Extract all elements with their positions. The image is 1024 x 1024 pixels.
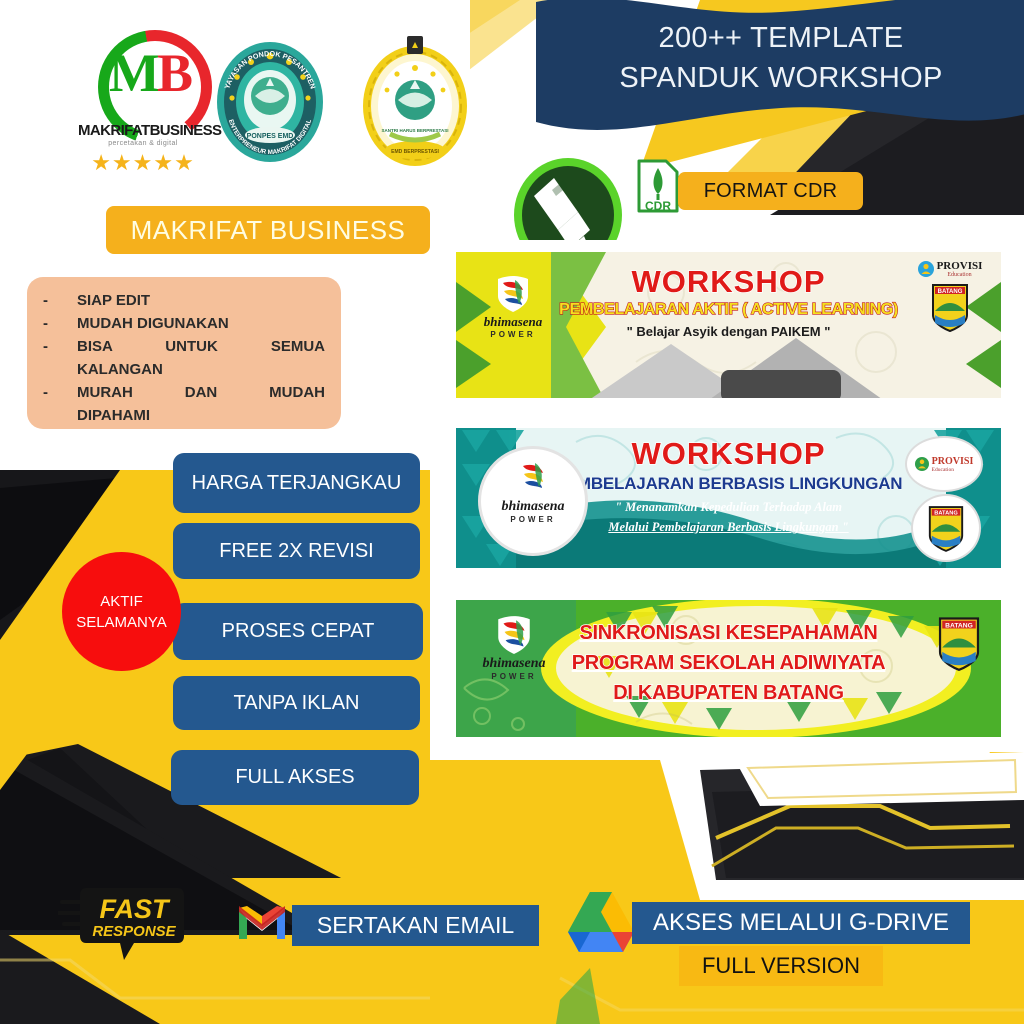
cdr-icon-label: CDR — [645, 199, 671, 213]
banner-2-region-label: BATANG — [934, 511, 958, 517]
features-list: -SIAP EDIT-MUDAH DIGUNAKAN-BISA UNTUK SE… — [43, 289, 325, 427]
banner-2-sponsor-name: bhimasena — [481, 499, 585, 515]
feature-item: KALANGAN — [43, 358, 325, 381]
feature-bullet: - — [43, 381, 77, 404]
header-title-line-2: SPANDUK WORKSHOP — [536, 58, 1024, 98]
header-ribbon: 200++ TEMPLATE SPANDUK WORKSHOP — [536, 0, 1024, 141]
feature-button-full-akses[interactable]: FULL AKSES — [171, 750, 419, 805]
feature-text: DIPAHAMI — [77, 404, 325, 427]
fast-response-line-1: FAST — [99, 894, 171, 924]
feature-item: -SIAP EDIT — [43, 289, 325, 312]
logo-wordmark: MAKRIFATBUSINESS — [78, 122, 208, 139]
feature-item: DIPAHAMI — [43, 404, 325, 427]
banner-3-sponsor-name: bhimasena — [470, 656, 558, 672]
full-version-label: FULL VERSION — [702, 953, 860, 979]
feature-bullet: - — [43, 289, 77, 312]
banner-1-sponsor-name: bhimasena — [472, 314, 554, 330]
feature-item: -BISA UNTUK SEMUA — [43, 335, 325, 358]
feature-text: MURAH DAN MUDAH — [77, 381, 325, 404]
sertakan-email-box: SERTAKAN EMAIL — [292, 905, 539, 946]
badge-line-2: SELAMANYA — [76, 612, 167, 633]
logo-initial-b: B — [157, 43, 190, 103]
bhimasena-shield-icon — [495, 614, 533, 656]
button-label: FREE 2X REVISI — [219, 539, 374, 564]
gdrive-access-label: AKSES MELALUI G-DRIVE — [653, 909, 949, 937]
bhimasena-shield-icon — [495, 274, 531, 314]
header-title-line-1: 200++ TEMPLATE — [536, 18, 1024, 58]
logo-initial-m: M — [109, 43, 157, 103]
brand-title-label: MAKRIFAT BUSINESS — [131, 215, 406, 246]
cdr-file-icon: CDR — [636, 158, 680, 214]
banner-1-region-label: BATANG — [938, 289, 963, 295]
gmail-icon — [236, 898, 288, 942]
format-cdr-pill: FORMAT CDR — [678, 172, 863, 210]
emblem-sub-text: SANTRI HARUS BERPRESTASI — [382, 128, 449, 133]
banner-3-sponsor: bhimasena POWER — [470, 614, 558, 681]
feature-button-free-revisi[interactable]: FREE 2X REVISI — [173, 523, 420, 579]
brand-title-pill: MAKRIFAT BUSINESS — [106, 206, 430, 254]
provisi-icon — [918, 261, 934, 277]
gdrive-access-box: AKSES MELALUI G-DRIVE — [632, 902, 970, 944]
feature-text: MUDAH DIGUNAKAN — [77, 312, 325, 335]
banner-3-sponsor-sub: POWER — [470, 672, 558, 681]
fast-response-badge: FAST RESPONSE — [58, 886, 186, 962]
feature-button-harga-terjangkau[interactable]: HARGA TERJANGKAU — [173, 453, 420, 513]
feature-text: KALANGAN — [77, 358, 325, 381]
features-box: -SIAP EDIT-MUDAH DIGUNAKAN-BISA UNTUK SE… — [27, 277, 341, 429]
yayasan-pondok-pesantren-seal: PONPES EMD YAYASAN PONDOK PESANTREN ENTE… — [215, 40, 325, 164]
banner-2-partner-sub: Education — [932, 467, 974, 473]
banner-3-region-label: BATANG — [945, 622, 973, 629]
banner-1-sponsor: bhimasena POWER — [472, 274, 554, 339]
banner-3-line-3: DI KABUPATEN BATANG — [456, 682, 1001, 705]
logo-initials: MB — [109, 44, 181, 106]
banner-2-sponsor-sub: POWER — [481, 515, 585, 524]
button-label: PROSES CEPAT — [222, 619, 375, 644]
gold-chain-emblem: EMD BERPRESTASI SANTRI HARUS BERPRESTASI — [355, 34, 475, 174]
banner-preview-3[interactable]: SINKRONISASI KESEPAHAMAN PROGRAM SEKOLAH… — [456, 596, 1001, 741]
makrifat-business-logo: MB MAKRIFATBUSINESS percetakan & digital… — [78, 30, 208, 180]
feature-bullet: - — [43, 335, 77, 358]
bhimasena-shield-icon — [515, 457, 551, 497]
seal-ribbon-text: PONPES EMD — [247, 133, 294, 140]
full-version-box: FULL VERSION — [679, 946, 883, 986]
fast-response-line-2: RESPONSE — [92, 923, 176, 940]
rating-stars: ★★★★★ — [78, 152, 208, 174]
button-label: HARGA TERJANGKAU — [192, 471, 402, 496]
banner-preview-1[interactable]: WORKSHOP PEMBELAJARAN AKTIF ( ACTIVE LEA… — [456, 252, 1001, 402]
feature-button-tanpa-iklan[interactable]: TANPA IKLAN — [173, 676, 420, 730]
banner-1-sponsor-sub: POWER — [472, 330, 554, 339]
badge-line-1: AKTIF — [100, 591, 143, 612]
banner-2-region: BATANG — [911, 494, 981, 562]
google-drive-icon — [564, 888, 638, 956]
aktif-selamanya-badge: AKTIF SELAMANYA — [62, 552, 181, 671]
batang-crest-icon: BATANG — [926, 503, 966, 553]
feature-bullet — [43, 358, 77, 381]
button-label: TANPA IKLAN — [234, 691, 360, 716]
button-label: FULL AKSES — [235, 765, 354, 790]
sertakan-email-label: SERTAKAN EMAIL — [317, 912, 514, 939]
promo-graphic: MB MAKRIFATBUSINESS percetakan & digital… — [0, 0, 1024, 1024]
batang-crest-icon: BATANG — [929, 281, 971, 333]
feature-bullet: - — [43, 312, 77, 335]
provisi-icon — [915, 457, 929, 471]
feature-button-proses-cepat[interactable]: PROSES CEPAT — [173, 603, 423, 660]
batang-crest-icon: BATANG — [935, 614, 983, 672]
banner-3-region: BATANG — [935, 614, 983, 677]
format-cdr-label: FORMAT CDR — [704, 180, 837, 203]
feature-text: BISA UNTUK SEMUA — [77, 335, 325, 358]
banner-2-partner: PROVISI Education — [905, 436, 983, 492]
banner-1-partner: PROVISI Education BATANG — [907, 260, 993, 338]
feature-item: -MURAH DAN MUDAH — [43, 381, 325, 404]
banner-2-sponsor: bhimasena POWER — [478, 446, 588, 556]
banner-1-partner-sub: Education — [937, 272, 983, 278]
emblem-ribbon-text: EMD BERPRESTASI — [391, 149, 439, 155]
feature-item: -MUDAH DIGUNAKAN — [43, 312, 325, 335]
banner-1-partner-name: PROVISI — [937, 260, 983, 272]
feature-text: SIAP EDIT — [77, 289, 325, 312]
logo-row: MB MAKRIFATBUSINESS percetakan & digital… — [60, 22, 480, 182]
feature-bullet — [43, 404, 77, 427]
header-title: 200++ TEMPLATE SPANDUK WORKSHOP — [536, 18, 1024, 98]
logo-tagline: percetakan & digital — [78, 140, 208, 147]
banner-2-partner-name: PROVISI — [932, 456, 974, 467]
banner-preview-card: WORKSHOP PEMBELAJARAN AKTIF ( ACTIVE LEA… — [443, 240, 1013, 752]
banner-preview-2[interactable]: WORKSHOP PEMBELAJARAN BERBASIS LINGKUNGA… — [456, 424, 1001, 572]
